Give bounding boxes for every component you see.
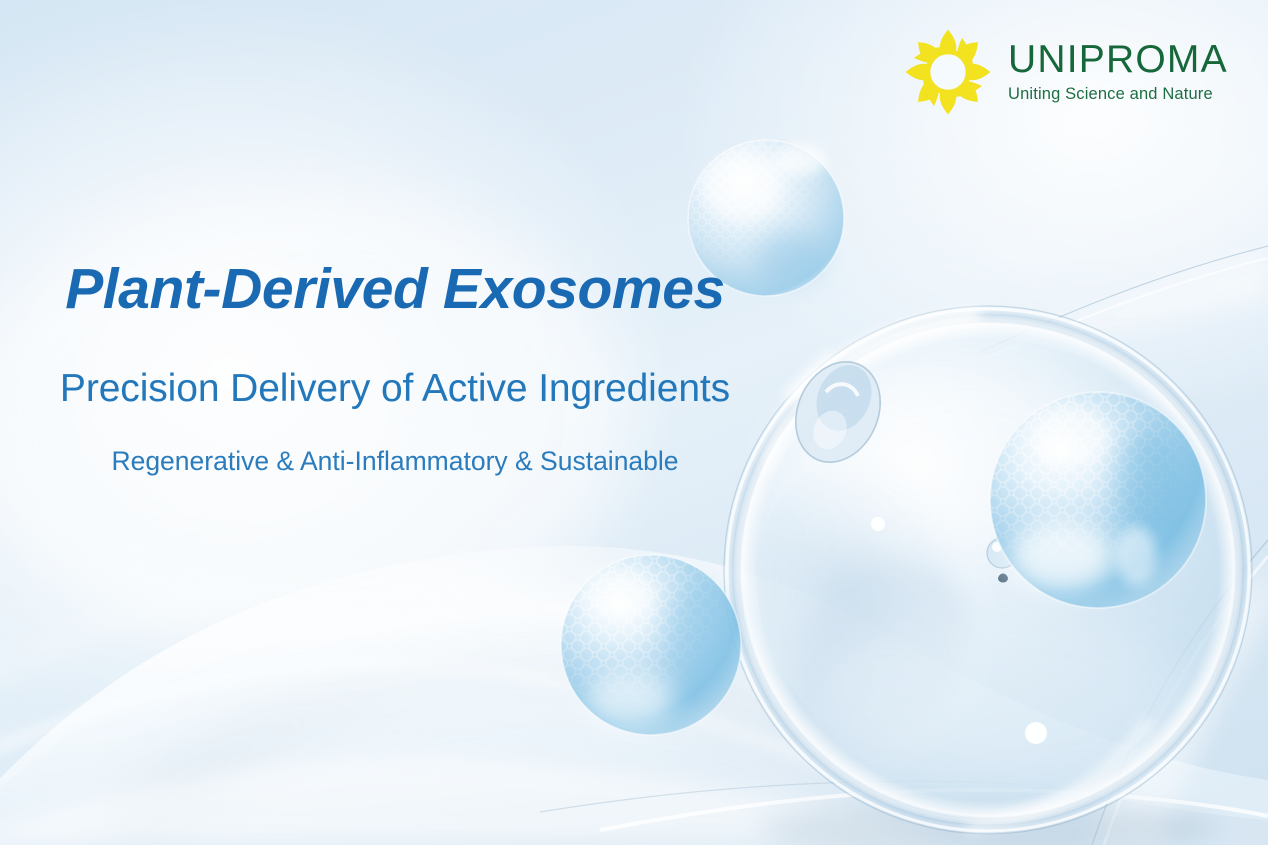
main-bubble (720, 306, 1252, 845)
brand-name: UNIPROMA (1008, 40, 1228, 80)
silk-waves (0, 546, 1268, 845)
page-title: Plant-Derived Exosomes (0, 258, 790, 322)
slide-canvas: UNIPROMA Uniting Science and Nature Plan… (0, 0, 1268, 845)
page-subtitle: Precision Delivery of Active Ingredients (0, 366, 790, 412)
glass-ribbons (1090, 540, 1268, 845)
diagonal-light-streak (980, 246, 1268, 358)
brand-tagline: Uniting Science and Nature (1008, 85, 1228, 104)
headline-block: Plant-Derived Exosomes Precision Deliver… (0, 258, 790, 478)
tiny-droplet (987, 538, 1017, 583)
white-highlight-dot (1025, 722, 1047, 744)
page-tagline: Regenerative & Anti-Inflammatory & Susta… (0, 446, 790, 478)
textured-cell-sphere-right (980, 382, 1216, 618)
brand-wordmark-block: UNIPROMA Uniting Science and Nature (1008, 40, 1228, 104)
uniproma-flower-mandala-icon (902, 26, 994, 118)
textured-cell-sphere-bottom-left (553, 547, 753, 747)
small-droplet-inside-bubble (780, 348, 895, 476)
brand-logo[interactable]: UNIPROMA Uniting Science and Nature (902, 26, 1228, 118)
